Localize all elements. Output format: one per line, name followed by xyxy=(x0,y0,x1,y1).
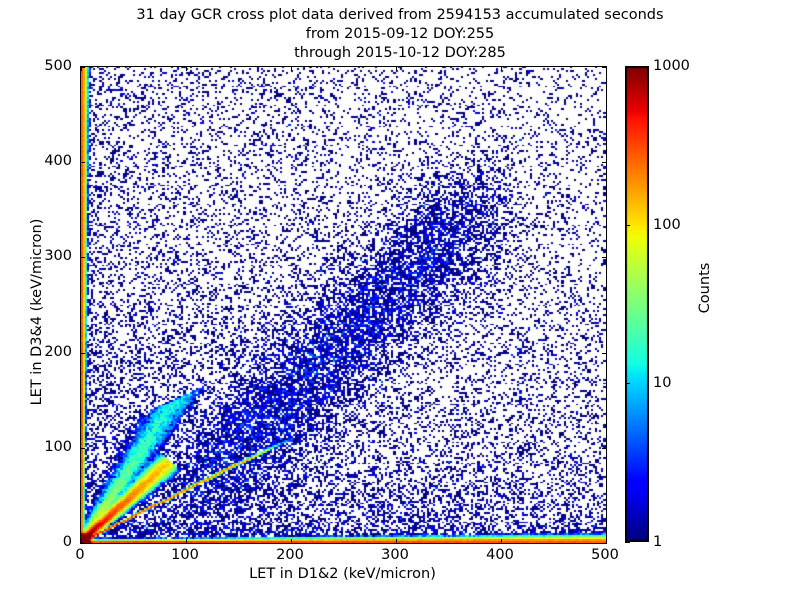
y-ticklabel-500: 500 xyxy=(16,58,72,74)
x-tick-top-500 xyxy=(606,67,607,71)
x-ticklabel-0: 0 xyxy=(75,547,84,563)
title-line-2: from 2015-09-12 DOY:255 xyxy=(0,25,800,44)
y-ticklabel-400: 400 xyxy=(16,153,72,169)
x-axis-label: LET in D1&2 (keV/micron) xyxy=(80,566,605,582)
figure-canvas: 31 day GCR cross plot data derived from … xyxy=(0,0,800,600)
x-ticklabel-400: 400 xyxy=(486,547,514,563)
y-tick-400 xyxy=(81,162,85,163)
plot-title: 31 day GCR cross plot data derived from … xyxy=(0,6,800,63)
y-tick-right-300 xyxy=(602,257,606,258)
colorbar-label: Counts xyxy=(697,228,713,348)
colorbar-tick-100 xyxy=(625,225,630,226)
colorbar-ticklabel-1000: 1000 xyxy=(653,58,690,74)
x-tick-100 xyxy=(186,539,187,543)
x-tick-300 xyxy=(396,539,397,543)
x-tick-500 xyxy=(606,539,607,543)
x-tick-400 xyxy=(501,539,502,543)
y-axis-label: LET in D3&4 (keV/micron) xyxy=(29,182,45,442)
x-tick-top-200 xyxy=(291,67,292,71)
x-tick-200 xyxy=(291,539,292,543)
y-tick-right-400 xyxy=(602,162,606,163)
y-tick-300 xyxy=(81,257,85,258)
y-tick-right-0 xyxy=(602,543,606,544)
y-tick-0 xyxy=(81,543,85,544)
colorbar-ticklabel-1: 1 xyxy=(653,534,662,550)
y-ticklabel-0: 0 xyxy=(16,534,72,550)
x-ticklabel-200: 200 xyxy=(276,547,304,563)
let-cross-plot-heatmap xyxy=(81,67,606,543)
y-tick-right-100 xyxy=(602,448,606,449)
x-tick-top-300 xyxy=(396,67,397,71)
y-tick-right-200 xyxy=(602,353,606,354)
y-tick-500 xyxy=(81,67,85,68)
title-line-1: 31 day GCR cross plot data derived from … xyxy=(0,6,800,25)
colorbar-tick-10 xyxy=(625,383,630,384)
x-ticklabel-500: 500 xyxy=(591,547,619,563)
y-tick-right-500 xyxy=(602,67,606,68)
x-tick-top-100 xyxy=(186,67,187,71)
colorbar-tick-1000 xyxy=(625,66,630,67)
colorbar xyxy=(625,66,649,542)
colorbar-gradient xyxy=(625,66,649,542)
x-ticklabel-100: 100 xyxy=(171,547,199,563)
y-tick-100 xyxy=(81,448,85,449)
x-tick-top-400 xyxy=(501,67,502,71)
main-plot-axes xyxy=(80,66,607,544)
y-tick-200 xyxy=(81,353,85,354)
colorbar-ticklabel-10: 10 xyxy=(653,375,671,391)
colorbar-tick-1 xyxy=(625,542,630,543)
colorbar-ticklabel-100: 100 xyxy=(653,217,681,233)
x-ticklabel-300: 300 xyxy=(381,547,409,563)
